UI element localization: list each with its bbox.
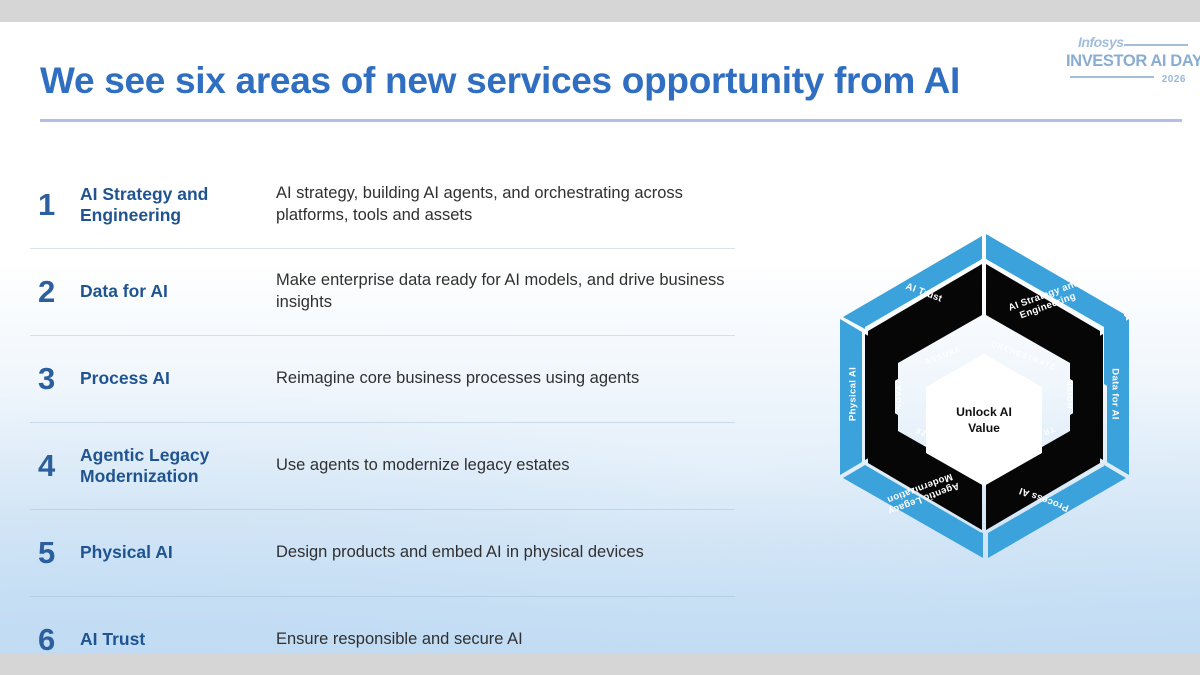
slide-content: We see six areas of new services opportu… <box>0 22 1200 653</box>
unlock-ai-value-hexagon-diagram: AI Strategy and Engineering Data for AI … <box>818 220 1150 572</box>
infosys-wordmark: Infosys <box>1078 34 1124 50</box>
list-item-category: Agentic Legacy Modernization <box>80 445 270 488</box>
page-title: We see six areas of new services opportu… <box>40 60 1050 101</box>
investor-ai-day-logo: Infosys INVESTOR AI DAY 2026 <box>1066 32 1188 100</box>
list-item[interactable]: 6 AI Trust Ensure responsible and secure… <box>30 596 735 653</box>
list-item-category: Physical AI <box>80 542 270 563</box>
list-item[interactable]: 4 Agentic Legacy Modernization Use agent… <box>30 422 735 509</box>
list-item-number: 6 <box>30 622 80 653</box>
list-item-number: 4 <box>30 448 80 484</box>
list-item-description: Reimagine core business processes using … <box>270 368 735 390</box>
logo-year: 2026 <box>1162 74 1186 85</box>
title-divider <box>40 119 1182 122</box>
list-item-description: Design products and embed AI in physical… <box>270 542 735 564</box>
list-item-number: 2 <box>30 274 80 310</box>
hex-inner-label-assure: ASSURE <box>924 344 963 366</box>
list-item-category: AI Trust <box>80 629 270 650</box>
logo-rule-top <box>1124 44 1188 46</box>
hex-core-label-line2: Value <box>968 421 1000 435</box>
list-item[interactable]: 1 AI Strategy and Engineering AI strateg… <box>30 162 735 248</box>
list-item[interactable]: 3 Process AI Reimagine core business pro… <box>30 335 735 422</box>
list-item-description: Ensure responsible and secure AI <box>270 629 735 651</box>
hex-outer-label-physical-ai: Physical AI <box>848 367 859 421</box>
list-item-category: Data for AI <box>80 281 270 302</box>
list-item-number: 5 <box>30 535 80 571</box>
list-item-description: AI strategy, building AI agents, and orc… <box>270 183 735 227</box>
logo-event-name: INVESTOR AI DAY <box>1066 52 1200 71</box>
opportunity-list: 1 AI Strategy and Engineering AI strateg… <box>30 162 735 653</box>
list-item-category: Process AI <box>80 368 270 389</box>
hex-outer-label-data-for-ai: Data for AI <box>1110 368 1121 420</box>
list-item-number: 3 <box>30 361 80 397</box>
logo-rule-bottom <box>1070 76 1154 78</box>
list-item-number: 1 <box>30 187 80 223</box>
hex-core-label-line1: Unlock AI <box>956 405 1012 419</box>
slide-canvas: We see six areas of new services opportu… <box>0 22 1200 653</box>
list-item[interactable]: 5 Physical AI Design products and embed … <box>30 509 735 596</box>
list-item-category: AI Strategy and Engineering <box>80 184 270 227</box>
list-item-description: Make enterprise data ready for AI models… <box>270 270 735 314</box>
list-item[interactable]: 2 Data for AI Make enterprise data ready… <box>30 248 735 335</box>
list-item-description: Use agents to modernize legacy estates <box>270 455 735 477</box>
